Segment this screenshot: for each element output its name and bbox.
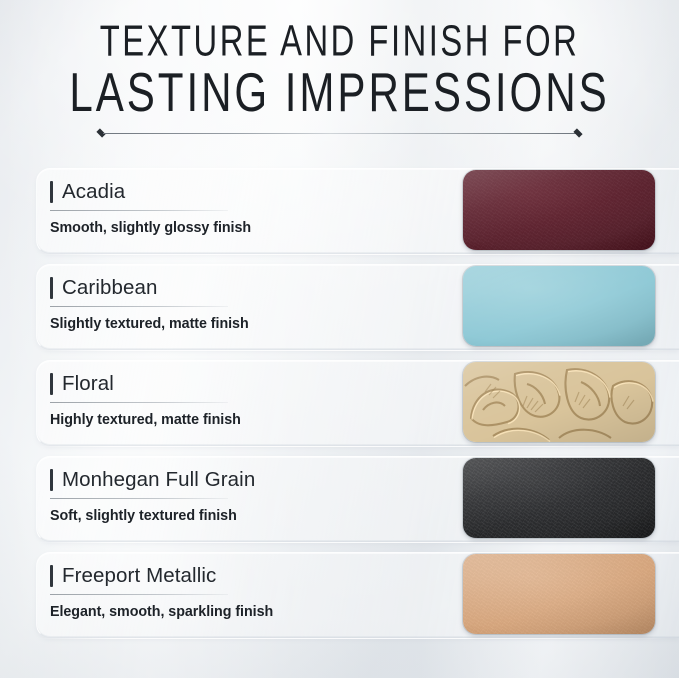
color-swatch[interactable] <box>463 458 655 538</box>
color-swatch[interactable] <box>463 554 655 634</box>
name-underline <box>50 210 228 211</box>
row-separator <box>36 254 667 255</box>
swatch-color-fill <box>463 266 655 346</box>
row-separator <box>36 542 667 543</box>
diamond-right-icon <box>573 128 582 137</box>
row-name-wrap: Floral <box>50 370 350 397</box>
row-name-wrap: Caribbean <box>50 274 350 301</box>
row-name-wrap: Freeport Metallic <box>50 562 350 589</box>
page-title: TEXTURE AND FINISH FOR LASTING IMPRESSIO… <box>0 22 679 119</box>
row-separator <box>36 350 667 351</box>
title-divider <box>97 128 582 138</box>
accent-bar-icon <box>50 565 53 587</box>
swatch-color-fill <box>463 170 655 250</box>
finish-row[interactable]: CaribbeanSlightly textured, matte finish <box>0 258 679 354</box>
name-underline <box>50 498 228 499</box>
swatch-color-fill <box>463 458 655 538</box>
swatch-texture <box>463 362 655 442</box>
row-separator <box>36 446 667 447</box>
row-separator <box>36 638 667 639</box>
color-swatch[interactable] <box>463 170 655 250</box>
finish-description: Smooth, slightly glossy finish <box>50 220 350 236</box>
name-underline <box>50 306 228 307</box>
finish-row[interactable]: Freeport MetallicElegant, smooth, sparkl… <box>0 546 679 642</box>
row-text-block: CaribbeanSlightly textured, matte finish <box>50 274 350 332</box>
row-name-wrap: Monhegan Full Grain <box>50 466 350 493</box>
color-swatch[interactable] <box>463 362 655 442</box>
swatch-color-fill <box>463 554 655 634</box>
color-swatch[interactable] <box>463 266 655 346</box>
finish-name: Freeport Metallic <box>62 564 216 588</box>
finish-list: AcadiaSmooth, slightly glossy finishCari… <box>0 162 679 642</box>
name-underline <box>50 402 228 403</box>
finish-row[interactable]: AcadiaSmooth, slightly glossy finish <box>0 162 679 258</box>
finish-name: Acadia <box>62 180 125 204</box>
row-text-block: Monhegan Full GrainSoft, slightly textur… <box>50 466 350 524</box>
accent-bar-icon <box>50 469 53 491</box>
accent-bar-icon <box>50 373 53 395</box>
finish-description: Soft, slightly textured finish <box>50 508 350 524</box>
row-name-wrap: Acadia <box>50 178 350 205</box>
accent-bar-icon <box>50 181 53 203</box>
title-line-1: TEXTURE AND FINISH FOR <box>54 20 624 65</box>
finish-description: Elegant, smooth, sparkling finish <box>50 604 350 620</box>
finish-name: Monhegan Full Grain <box>62 468 255 492</box>
row-text-block: FloralHighly textured, matte finish <box>50 370 350 428</box>
finish-row[interactable]: FloralHighly textured, matte finish <box>0 354 679 450</box>
finish-name: Floral <box>62 372 114 396</box>
row-text-block: Freeport MetallicElegant, smooth, sparkl… <box>50 562 350 620</box>
finish-row[interactable]: Monhegan Full GrainSoft, slightly textur… <box>0 450 679 546</box>
name-underline <box>50 594 228 595</box>
title-line-2: LASTING IMPRESSIONS <box>48 64 632 121</box>
accent-bar-icon <box>50 277 53 299</box>
finish-description: Slightly textured, matte finish <box>50 316 350 332</box>
row-text-block: AcadiaSmooth, slightly glossy finish <box>50 178 350 236</box>
finish-description: Highly textured, matte finish <box>50 412 350 428</box>
divider-line <box>103 133 576 134</box>
finish-name: Caribbean <box>62 276 158 300</box>
poster-canvas: TEXTURE AND FINISH FOR LASTING IMPRESSIO… <box>0 0 679 678</box>
